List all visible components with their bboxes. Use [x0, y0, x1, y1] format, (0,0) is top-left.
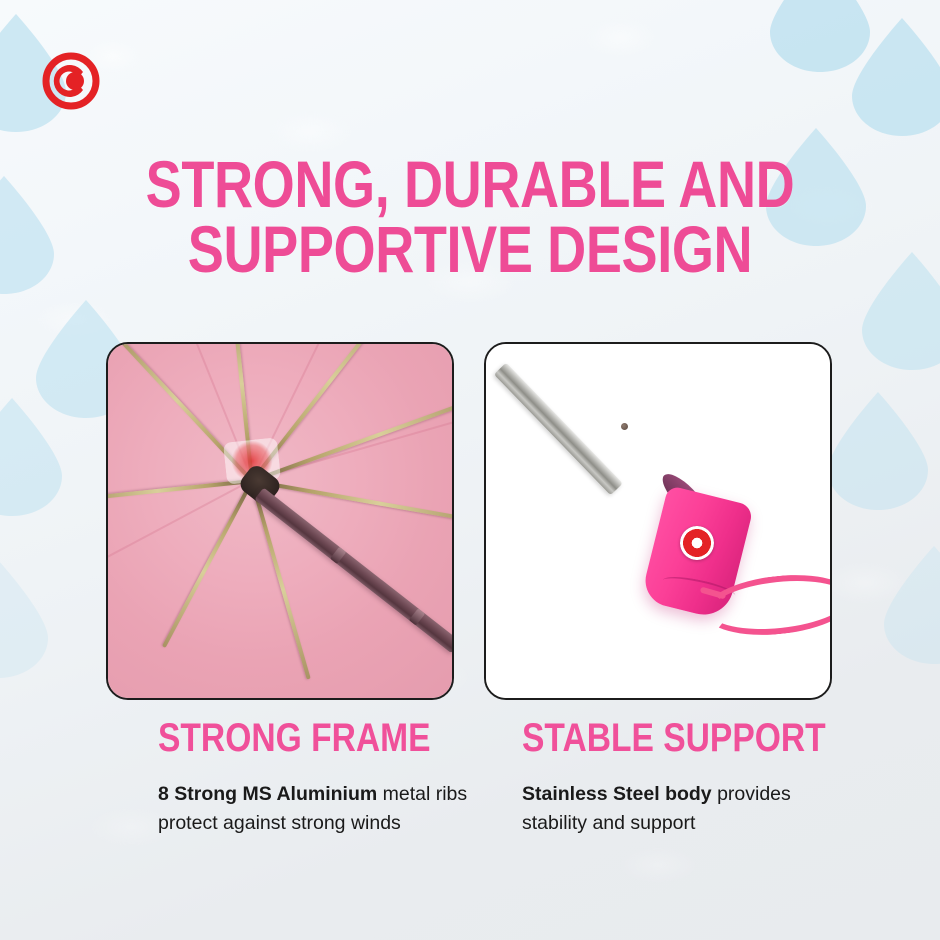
feature-title: STABLE SUPPORT: [522, 718, 824, 758]
raindrop-icon: [0, 176, 80, 326]
canopy-fabric: [108, 344, 452, 698]
raindrop-icon: [852, 18, 940, 164]
raindrop-icon: [0, 560, 60, 694]
feature-caption-strong-frame: STRONG FRAME 8 Strong MS Aluminium metal…: [158, 718, 518, 838]
circle-c-logo-icon: [42, 52, 100, 110]
raindrop-icon: [828, 392, 940, 532]
feature-image-card-strong-frame: [106, 342, 454, 700]
umbrella-handle-photo: [486, 344, 830, 698]
headline-line-2: SUPPORTIVE DESIGN: [85, 217, 856, 282]
headline-line-1: STRONG, DURABLE AND: [85, 152, 856, 217]
raindrop-icon: [862, 252, 940, 400]
feature-body-bold: 8 Strong MS Aluminium: [158, 783, 377, 805]
umbrella-canopy-photo: [108, 344, 452, 698]
raindrop-icon: [0, 398, 82, 540]
raindrop-icon: [884, 546, 940, 678]
feature-caption-stable-support: STABLE SUPPORT Stainless Steel body prov…: [522, 718, 882, 838]
shaft-rivet: [621, 423, 628, 430]
feature-title: STRONG FRAME: [158, 718, 460, 758]
badge-c-glyph-icon: [683, 529, 711, 557]
feature-image-card-stable-support: [484, 342, 832, 700]
promo-graphic: STRONG, DURABLE AND SUPPORTIVE DESIGN: [0, 0, 940, 940]
feature-body-bold: Stainless Steel body: [522, 783, 712, 805]
feature-body: 8 Strong MS Aluminium metal ribs protect…: [158, 780, 468, 838]
feature-body: Stainless Steel body provides stability …: [522, 780, 832, 838]
raindrop-icon: [770, 0, 902, 110]
page-title: STRONG, DURABLE AND SUPPORTIVE DESIGN: [85, 152, 856, 281]
